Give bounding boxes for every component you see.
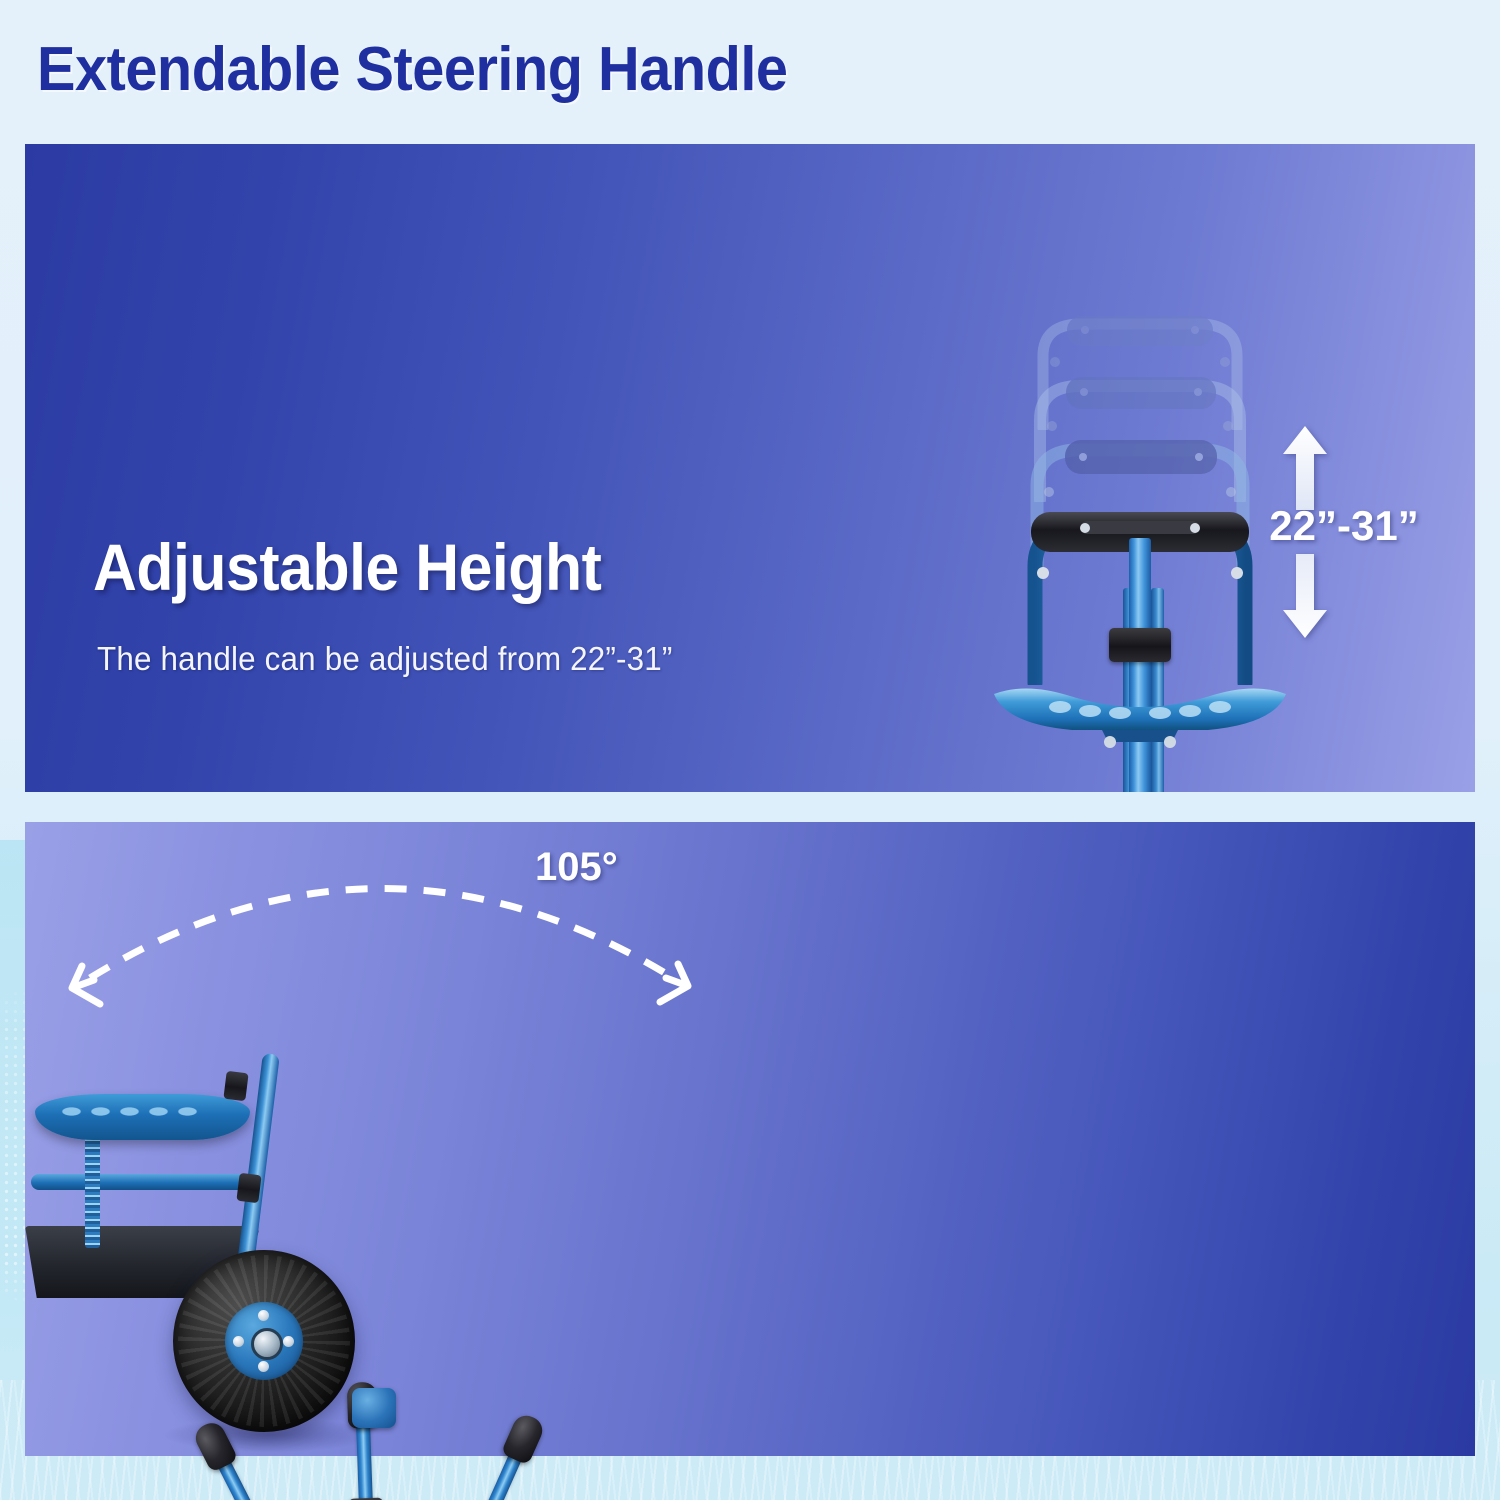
hub-bolt	[258, 1310, 269, 1321]
height-dimension-callout: 22”-31”	[1261, 426, 1431, 638]
background-left-band	[0, 840, 26, 1380]
feature-panel-adjustable-height: 22”-31” Adjustable Height The handle can…	[25, 144, 1475, 792]
height-lock-clamp-upper	[1109, 628, 1171, 662]
page-title: Extendable Steering Handle	[37, 34, 788, 105]
cart-frame-bar	[31, 1174, 253, 1190]
dimension-label: 22”-31”	[1229, 502, 1459, 550]
hub-bolt	[258, 1361, 269, 1372]
handle-position-4	[366, 1429, 536, 1500]
hub-bolt	[283, 1336, 294, 1347]
mast-tube-center	[1129, 538, 1151, 792]
upright-collar-lower	[236, 1173, 261, 1203]
arrow-down-icon	[1283, 554, 1327, 638]
wheel-front	[173, 1250, 355, 1432]
tractor-seat	[35, 1094, 250, 1140]
product-image-rotatable-handle	[25, 822, 745, 1456]
upright-collar-upper	[223, 1071, 248, 1101]
hub-bolt	[233, 1336, 244, 1347]
arrow-up-icon	[1283, 426, 1327, 510]
angle-label: 105°	[535, 845, 618, 890]
infographic-page: Extendable Steering Handle	[0, 0, 1500, 1500]
panel-1-subline: The handle can be adjusted from 22”-31”	[97, 640, 673, 678]
seat-swivel-post	[85, 1136, 100, 1248]
panel-1-headline: Adjustable Height	[93, 529, 601, 605]
handle-pivot-joint	[352, 1388, 396, 1428]
tractor-seat	[990, 680, 1290, 752]
wheel-axle	[251, 1328, 283, 1360]
